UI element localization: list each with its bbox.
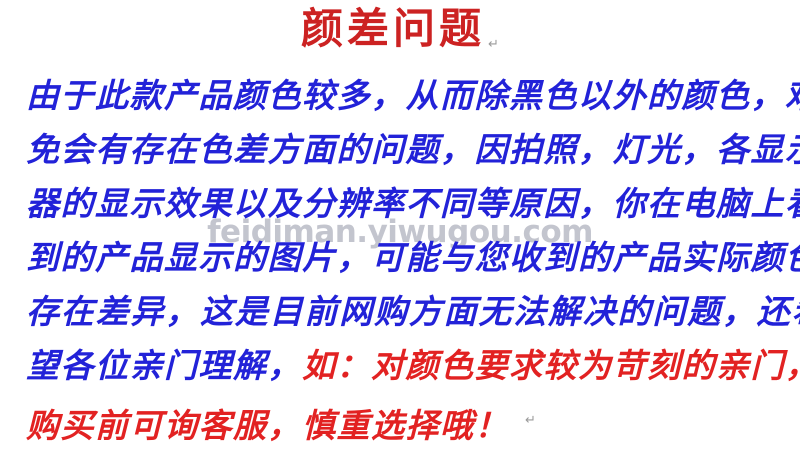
body-line: 器的显示效果以及分辨率不同等原因，你在电脑上看 <box>26 178 778 232</box>
paragraph-mark-icon: ↵ <box>525 394 536 448</box>
body-line: 免会有存在色差方面的问题，因拍照，灯光，各显示 <box>26 124 778 178</box>
body-line: 由于此款产品颜色较多，从而除黑色以外的颜色，难 <box>26 70 778 124</box>
body-line: 望各位亲门理解，如：对颜色要求较为苛刻的亲门， <box>26 340 778 394</box>
body-line: 到的产品显示的图片，可能与您收到的产品实际颜色 <box>26 232 778 286</box>
body-text-segment: 由于此款产品颜色较多，从而除黑色以外的颜色，难 <box>26 79 800 115</box>
page-title: 颜差问题↵ <box>0 4 800 56</box>
body-line: 存在差异，这是目前网购方面无法解决的问题，还希 <box>26 286 778 340</box>
notice-body: 由于此款产品颜色较多，从而除黑色以外的颜色，难 免会有存在色差方面的问题，因拍照… <box>26 70 778 448</box>
page-title-text: 颜差问题 <box>301 4 485 56</box>
body-text-segment: 望各位亲门理解， <box>26 349 302 385</box>
body-text-segment: 免会有存在色差方面的问题，因拍照，灯光，各显示 <box>26 133 800 169</box>
body-text-segment: 存在差异，这是目前网购方面无法解决的问题，还希 <box>26 295 800 331</box>
body-line: 购买前可询客服，慎重选择哦！↵ <box>26 394 778 448</box>
body-text-segment-emphasis: 购买前可询客服，慎重选择哦！ <box>26 409 509 445</box>
paragraph-mark-icon: ↵ <box>488 37 499 52</box>
product-notice-image: 颜差问题↵ feidiman.yiwugou.com 由于此款产品颜色较多，从而… <box>0 0 800 456</box>
body-text-segment: 到的产品显示的图片，可能与您收到的产品实际颜色 <box>26 241 800 277</box>
body-text-segment-emphasis: 如：对颜色要求较为苛刻的亲门， <box>302 349 800 385</box>
body-text-segment: 器的显示效果以及分辨率不同等原因，你在电脑上看 <box>26 187 800 223</box>
